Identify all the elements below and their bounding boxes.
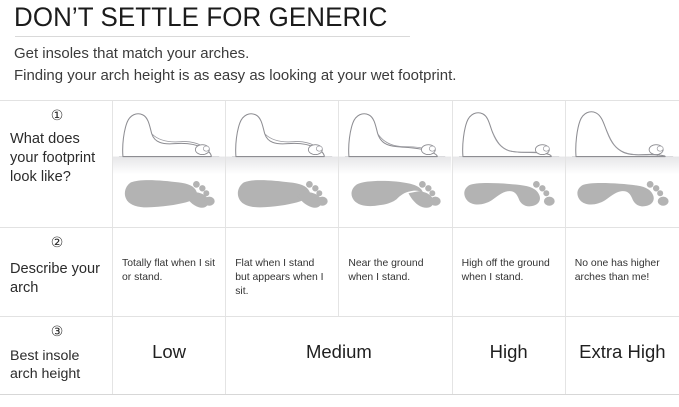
table-row-describe: ② Describe your arch Totally flat when I… (0, 228, 679, 317)
foot-print-flat-icon (113, 101, 225, 227)
footprint-cell-high (453, 101, 566, 227)
describe-cell-low: Flat when I stand but appears when I sit… (226, 228, 339, 316)
describe-text: Flat when I stand but appears when I sit… (226, 228, 338, 299)
foot-print-medium-icon (339, 101, 451, 227)
row-label-describe: ② Describe your arch (0, 228, 113, 316)
describe-text: Near the ground when I stand. (339, 228, 451, 285)
foot-print-high-icon (453, 101, 565, 227)
arch-height-label: Medium (226, 317, 451, 394)
arch-height-label: Low (113, 317, 225, 394)
row-label-text: Best insole arch height (10, 348, 104, 384)
row-label-text: What does your footprint look like? (10, 130, 104, 187)
describe-cell-high: High off the ground when I stand. (453, 228, 566, 316)
row-label-text: Describe your arch (10, 260, 104, 298)
footprint-cell-extra-high (566, 101, 679, 227)
footprint-cell-medium (339, 101, 452, 227)
arch-height-cell-low: Low (113, 317, 226, 394)
title-divider (15, 36, 410, 37)
page-title: DON’T SETTLE FOR GENERIC (14, 2, 652, 32)
arch-height-cell-extra-high: Extra High (566, 317, 679, 394)
arch-height-label: High (453, 317, 565, 394)
subtitle-line-1: Get insoles that match your arches. (14, 43, 669, 65)
step-number-1: ① (10, 109, 104, 123)
foot-print-extra-high-icon (566, 101, 679, 227)
foot-print-low-icon (226, 101, 338, 227)
arch-height-cell-medium: Medium (226, 317, 452, 394)
describe-text: Totally flat when I sit or stand. (113, 228, 225, 285)
describe-cell-extra-high: No one has higher arches than me! (566, 228, 679, 316)
table-row-footprint: ① What does your footprint look like? (0, 101, 679, 228)
describe-cell-flat: Totally flat when I sit or stand. (113, 228, 226, 316)
describe-text: No one has higher arches than me! (566, 228, 679, 285)
row-label-arch-height: ③ Best insole arch height (0, 317, 113, 394)
arch-height-label: Extra High (566, 317, 679, 394)
describe-text: High off the ground when I stand. (453, 228, 565, 285)
row-label-footprint: ① What does your footprint look like? (0, 101, 113, 227)
step-number-2: ② (10, 236, 104, 250)
describe-cell-medium: Near the ground when I stand. (339, 228, 452, 316)
footprint-cell-low (226, 101, 339, 227)
infographic-page: DON’T SETTLE FOR GENERIC Get insoles tha… (0, 0, 679, 407)
step-number-3: ③ (10, 325, 104, 339)
table-row-arch-height: ③ Best insole arch height Low Medium Hig… (0, 317, 679, 394)
arch-comparison-table: ① What does your footprint look like? (0, 100, 679, 395)
subtitle-line-2: Finding your arch height is as easy as l… (14, 65, 669, 87)
header: DON’T SETTLE FOR GENERIC Get insoles tha… (0, 0, 679, 86)
arch-height-cell-high: High (453, 317, 566, 394)
footprint-cell-flat (113, 101, 226, 227)
